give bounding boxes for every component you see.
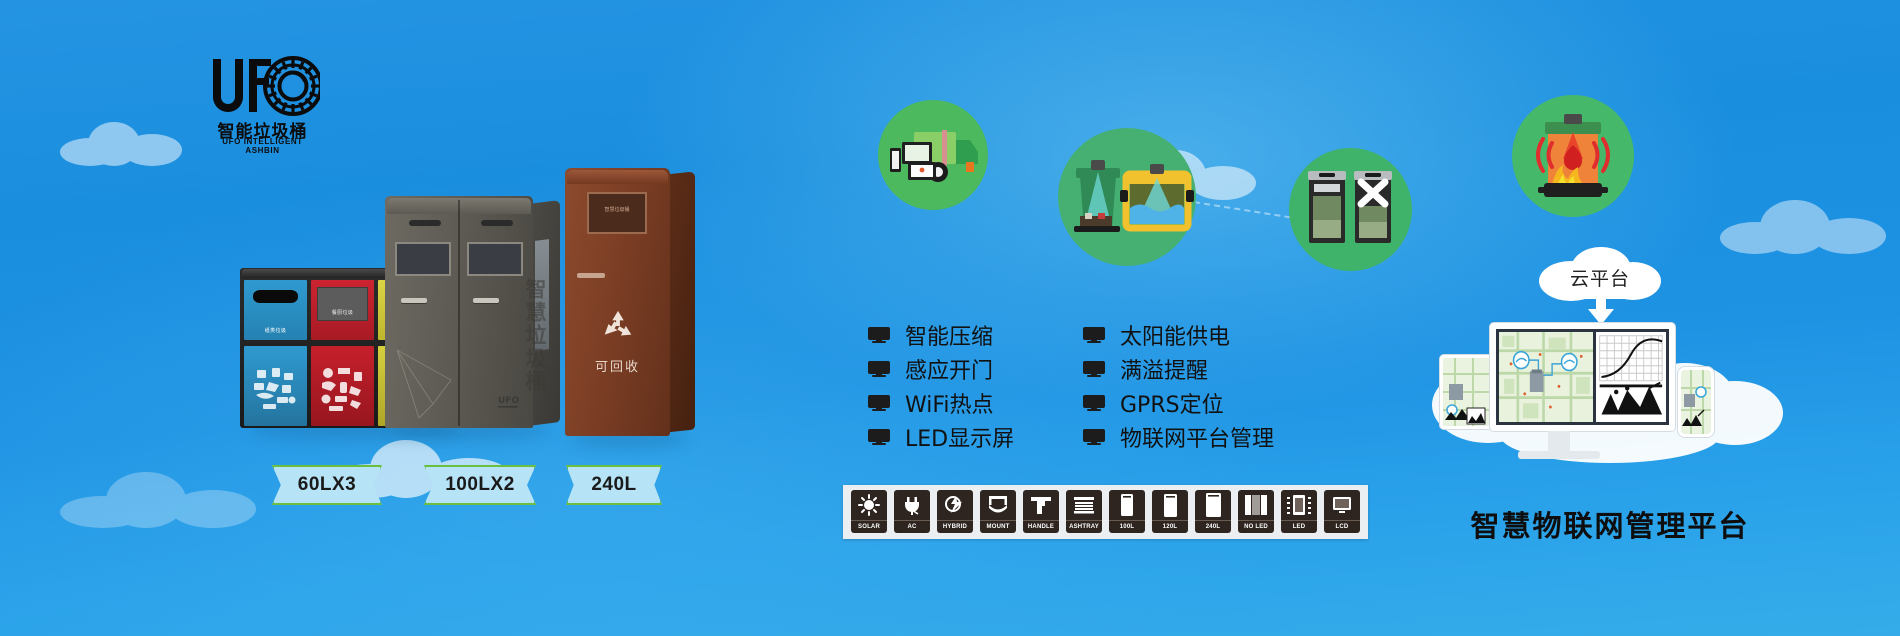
spec-icon-handle[interactable]: HANDLE [1023,490,1059,534]
phone-device [1678,367,1714,437]
feature-column-right: 太阳能供电 满溢提醒 GPRS定位 物联网平台管理 [1083,318,1274,454]
compaction-icon [1289,148,1412,271]
spec-icon-strip: SOLAR AC HYBRID [843,485,1368,539]
bin-window-text: 智慧垃圾桶 [589,206,645,213]
feature-item: 满溢提醒 [1083,352,1274,386]
spec-icon-no-led[interactable]: NO LED [1238,490,1274,534]
bin-100l-icon [1109,490,1145,520]
monitor-icon [1083,429,1105,446]
feature-item: 智能压缩 [868,318,1014,352]
fleet-monitoring-icon [878,100,988,210]
monitor-icon [868,327,890,344]
spec-icon-120l[interactable]: 120L [1152,490,1188,534]
monitor-icon [1083,327,1105,344]
arrow-down-icon [1588,295,1614,325]
feature-item: WiFi热点 [868,386,1014,420]
lcd-icon [1324,490,1360,520]
spec-icon-lcd[interactable]: LCD [1324,490,1360,534]
cloud-decoration [60,120,190,168]
feature-item: 感应开门 [868,352,1014,386]
spec-icon-label: 240L [1195,520,1231,533]
compaction-circle [1289,148,1412,271]
plug-icon [894,490,930,520]
analytics-chart [1596,332,1666,422]
spec-icon-hybrid[interactable]: HYBRID [937,490,973,534]
promotional-banner: 智能垃圾桶 UFO INTELLIGENT ASHBIN 纸类垃圾 [0,0,1900,636]
monitor-icon [868,429,890,446]
recycle-icon [599,308,637,346]
brand-name-en: UFO INTELLIGENT ASHBIN [205,137,320,155]
cloud-platform-illustration: 云平台 [1440,245,1780,495]
spec-icon-label: NO LED [1238,520,1274,533]
monitor-icon [1083,395,1105,412]
feature-item: 物联网平台管理 [1083,420,1274,454]
monitor-stand [1548,431,1570,453]
spec-icon-ashtray[interactable]: ASHTRAY [1066,490,1102,534]
ashtray-icon [1066,490,1102,520]
ufo-wordmark-icon [205,55,320,117]
brand-logo: 智能垃圾桶 UFO INTELLIGENT ASHBIN [205,55,320,150]
feature-label: 太阳能供电 [1120,319,1230,351]
capacity-badge-100lx2: 100LX2 [424,465,536,505]
feature-label: LED显示屏 [905,421,1014,453]
fire-alarm-icon [1512,95,1634,217]
bin-120l-icon [1152,490,1188,520]
spec-icon-label: AC [894,520,930,533]
tablet-device [1440,355,1492,429]
monitor-base [1518,451,1600,459]
fill-level-sensor-circle [1058,128,1196,266]
monitor-icon [868,395,890,412]
spec-icon-label: LCD [1324,520,1360,533]
mount-icon [980,490,1016,520]
feature-label: 物联网平台管理 [1120,421,1274,453]
no-led-icon [1238,490,1274,520]
feature-label: 满溢提醒 [1120,353,1208,385]
led-icon [1281,490,1317,520]
map-view [1499,332,1593,422]
bin-compartment-kitchen: 餐厨垃圾 [311,280,374,426]
monitor-icon [868,361,890,378]
compartment-label: 餐厨垃圾 [311,309,374,316]
fill-level-sensor-icon [1058,128,1196,266]
spec-icon-label: HYBRID [937,520,973,533]
feature-item: 太阳能供电 [1083,318,1274,352]
spec-icon-label: LED [1281,520,1317,533]
spec-icon-label: HANDLE [1023,520,1059,533]
paper-waste-icon [251,364,300,414]
bin-compartment-paper: 纸类垃圾 [244,280,307,426]
fire-alarm-circle [1512,95,1634,217]
feature-label: 智能压缩 [905,319,993,351]
cloud-label-text: 云平台 [1535,264,1665,291]
ufo-small-mark-icon: UFO [497,392,519,414]
capacity-badge-60lx3: 60LX3 [272,465,382,505]
feature-label: 感应开门 [905,353,993,385]
fleet-monitoring-circle [878,100,988,210]
handle-icon [1023,490,1059,520]
platform-caption: 智慧物联网管理平台 [1400,503,1820,545]
spec-icon-100l[interactable]: 100L [1109,490,1145,534]
spec-icon-label: 100L [1109,520,1145,533]
spec-icon-solar[interactable]: SOLAR [851,490,887,534]
monitor-icon [1083,361,1105,378]
spec-icon-led[interactable]: LED [1281,490,1317,534]
feature-column-left: 智能压缩 感应开门 WiFi热点 LED显示屏 [868,318,1014,454]
spec-icon-label: ASHTRAY [1066,520,1102,533]
spec-icon-240l[interactable]: 240L [1195,490,1231,534]
bin-body-text: 可回收 [565,356,670,375]
svg-text:UFO: UFO [498,396,519,406]
capacity-badge-240l: 240L [566,465,662,505]
spec-icon-label: SOLAR [851,520,887,533]
feature-label: GPRS定位 [1120,387,1224,419]
spec-icon-mount[interactable]: MOUNT [980,490,1016,534]
hybrid-power-icon [937,490,973,520]
single-recycle-bin: 智慧垃圾桶 可回收 [565,168,695,443]
feature-label: WiFi热点 [905,387,994,419]
feature-item: GPRS定位 [1083,386,1274,420]
feature-item: LED显示屏 [868,420,1014,454]
spec-icon-label: 120L [1152,520,1188,533]
bin-body-text: 智慧垃圾桶 [520,278,546,393]
bin-display-window: 智慧垃圾桶 [587,192,647,234]
scratch-pattern [393,346,463,422]
bin-240l-icon [1195,490,1231,520]
spec-icon-label: MOUNT [980,520,1016,533]
cloud-decoration [60,470,260,530]
desktop-monitor [1490,323,1675,431]
kitchen-waste-icon [318,364,367,414]
double-smart-bin: 智慧垃圾桶 UFO [385,196,560,434]
compartment-label: 纸类垃圾 [244,327,307,334]
spec-icon-ac[interactable]: AC [894,490,930,534]
sun-icon [851,490,887,520]
